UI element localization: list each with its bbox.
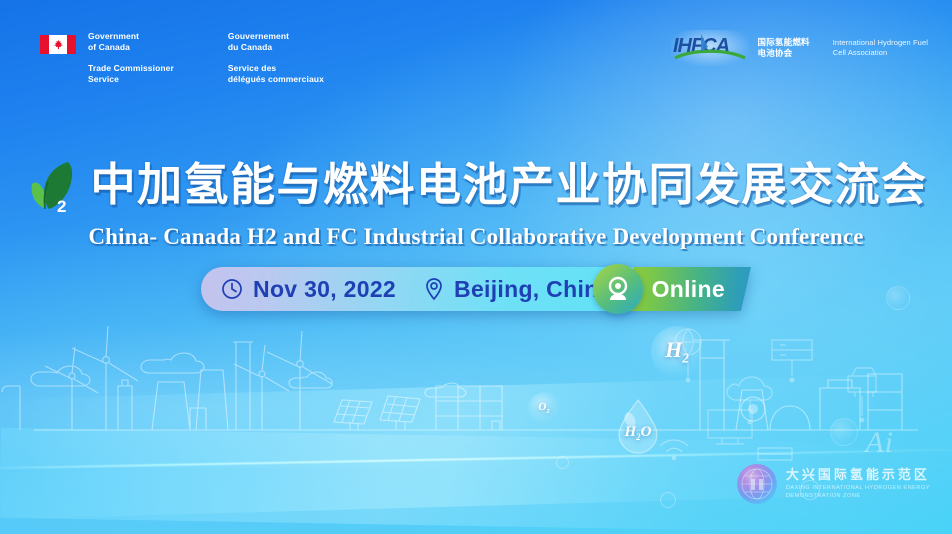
goc-government-fr: Gouvernement du Canada: [228, 31, 324, 54]
monitor-icon: [708, 410, 752, 438]
globe-icon: [675, 329, 701, 355]
ihfca-mark-icon: IHFCA: [671, 30, 749, 66]
event-details-group: Nov 30, 2022 Beijing, China: [201, 267, 634, 311]
goc-english-column: Government of Canada Trade Commissioner …: [88, 31, 174, 85]
event-mode: Online: [652, 276, 725, 303]
molecule-h2-bubble: H2: [651, 326, 703, 378]
molecule-h2o-droplet: H2O: [614, 398, 662, 454]
car-icon: [848, 376, 876, 392]
government-of-canada-logo: Government of Canada Trade Commissioner …: [40, 31, 324, 85]
maple-leaf-icon: [53, 38, 64, 51]
daxing-name-en: DAXING INTERNATIONAL HYDROGEN ENERGY DEM…: [786, 484, 930, 500]
svg-text:2: 2: [57, 197, 66, 216]
webcam-icon: [593, 264, 643, 314]
conference-banner: Ai H2 H2O O2 Government of Canada: [0, 0, 952, 534]
server-icon: [772, 340, 812, 360]
molecule-o2-bubble: O2: [528, 392, 560, 424]
canada-flag-icon: [40, 35, 76, 54]
atom-ring-icon: [738, 394, 768, 424]
city-energy-line-art: [0, 322, 952, 462]
daxing-globe-icon: [737, 464, 777, 504]
clock-icon: [221, 278, 243, 300]
ai-label: Ai: [865, 426, 894, 460]
bokeh-circle: [830, 418, 858, 446]
location-pin-icon: [424, 277, 444, 301]
page-title-en: China- Canada H2 and FC Industrial Colla…: [0, 224, 952, 250]
cloud-icon: [727, 377, 772, 400]
bokeh-circle: [660, 492, 676, 508]
hero-section: 2 中加氢能与燃料电池产业协同发展交流会 China- Canada H2 an…: [0, 152, 952, 250]
goc-french-column: Gouvernement du Canada Service des délég…: [228, 31, 324, 85]
daxing-sponsor-logo: 大兴国际氢能示范区 DAXING INTERNATIONAL HYDROGEN …: [737, 464, 930, 504]
ihfca-name-en: International Hydrogen Fuel Cell Associa…: [833, 38, 928, 58]
goc-government-en: Government of Canada: [88, 31, 174, 54]
ihfca-name-cn: 国际氢能燃料 电池协会: [758, 37, 810, 59]
water-droplet-icon: [614, 398, 662, 454]
goc-tcs-en: Trade Commissioner Service: [88, 63, 174, 86]
ihfca-logo: IHFCA 国际氢能燃料 电池协会 International Hydrogen…: [671, 30, 928, 66]
molecule-ring-bubble: [738, 394, 768, 424]
event-location: Beijing, China: [454, 276, 612, 303]
event-date: Nov 30, 2022: [253, 276, 396, 303]
h2-leaf-icon: 2: [24, 156, 84, 218]
event-info-bar: Nov 30, 2022 Beijing, China Online: [0, 267, 952, 311]
daxing-name-cn: 大兴国际氢能示范区: [786, 468, 930, 481]
page-title-cn: 中加氢能与燃料电池产业协同发展交流会: [90, 163, 927, 208]
goc-tcs-fr: Service des délégués commerciaux: [228, 63, 324, 86]
wifi-icon: [660, 440, 688, 452]
background-wave-1: [0, 318, 952, 468]
